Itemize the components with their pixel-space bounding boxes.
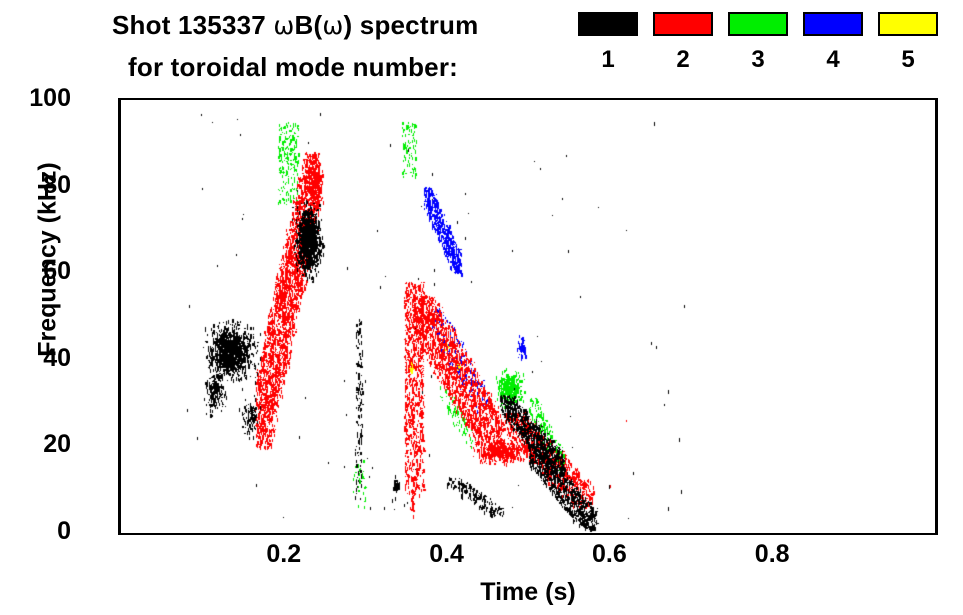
title-b-text: B( — [295, 10, 323, 40]
legend-item-1: 1 — [578, 12, 638, 72]
legend: 12345 — [578, 12, 948, 90]
legend-swatch-4 — [803, 12, 863, 36]
spectrogram-plot — [121, 100, 935, 533]
title-spectrum-text: ) spectrum — [344, 10, 479, 40]
x-axis-label: Time (s) — [121, 578, 935, 607]
legend-swatch-5 — [878, 12, 938, 36]
x-tick-label: 0.2 — [239, 542, 329, 567]
y-tick-label: 80 — [1, 173, 71, 198]
legend-swatch-1 — [578, 12, 638, 36]
spectrogram-figure: Shot 135337 ωB(ω) spectrum for toroidal … — [0, 0, 963, 615]
x-tick-label: 0.4 — [402, 542, 492, 567]
legend-swatch-3 — [728, 12, 788, 36]
x-tick-label: 0.8 — [727, 542, 817, 567]
y-tick-label: 100 — [1, 86, 71, 111]
legend-label-4: 4 — [803, 48, 863, 72]
y-tick-label: 60 — [1, 259, 71, 284]
legend-item-3: 3 — [728, 12, 788, 72]
legend-label-1: 1 — [578, 48, 638, 72]
y-tick-label: 20 — [1, 432, 71, 457]
y-tick-label: 0 — [1, 519, 71, 544]
omega-symbol-1: ω — [273, 11, 294, 40]
legend-label-3: 3 — [728, 48, 788, 72]
plot-area — [121, 100, 935, 533]
title-line-2: for toroidal mode number: — [128, 52, 458, 83]
legend-swatch-2 — [653, 12, 713, 36]
omega-symbol-2: ω — [322, 11, 343, 40]
title-line-1: Shot 135337 ωB(ω) spectrum — [112, 10, 478, 41]
legend-item-5: 5 — [878, 12, 938, 72]
x-tick-label: 0.6 — [564, 542, 654, 567]
legend-item-2: 2 — [653, 12, 713, 72]
y-tick-label: 40 — [1, 346, 71, 371]
right-frame-line — [935, 98, 938, 535]
legend-item-4: 4 — [803, 12, 863, 72]
title-shot-text: Shot 135337 — [112, 10, 273, 40]
legend-label-2: 2 — [653, 48, 713, 72]
legend-label-5: 5 — [878, 48, 938, 72]
